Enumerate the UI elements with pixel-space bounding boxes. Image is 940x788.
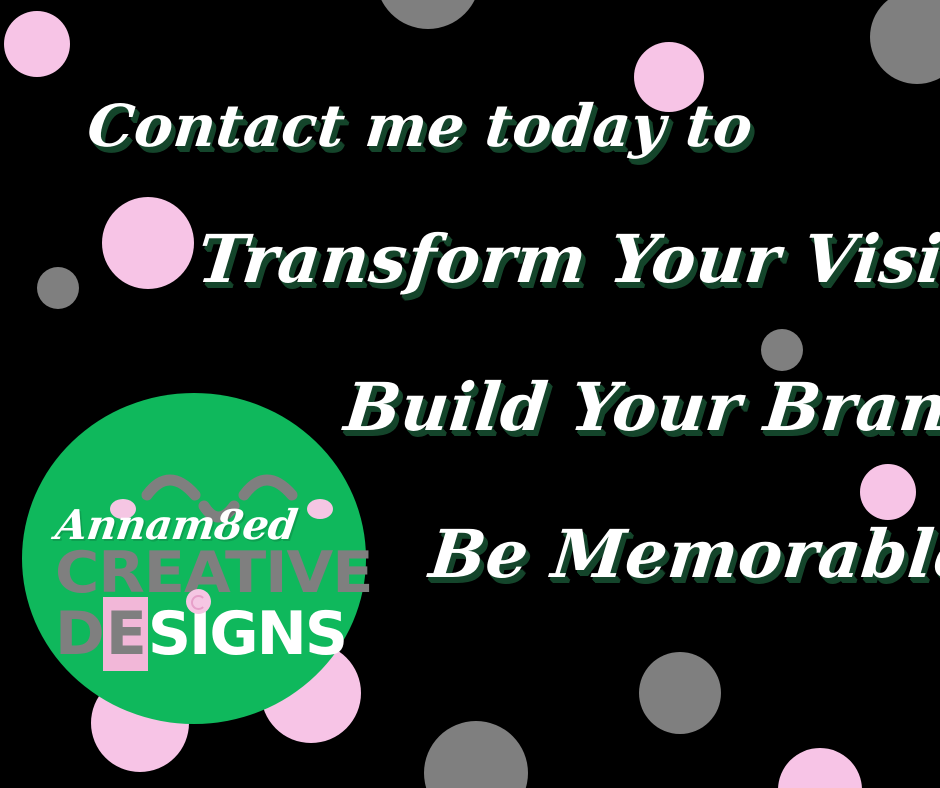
decorative-dot (778, 748, 862, 788)
decorative-dot (761, 329, 803, 371)
decorative-dot (102, 197, 194, 289)
logo-swirl-accent-icon (186, 589, 211, 614)
poster-canvas: Annam8ed CREATIVE DESIGNS Contact me tod… (0, 0, 940, 788)
decorative-dot (37, 267, 79, 309)
decorative-dot (639, 652, 721, 734)
brand-logo-badge: Annam8ed CREATIVE DESIGNS (22, 393, 366, 724)
decorative-dot (376, 0, 480, 29)
logo-designs-letter-e: E (103, 597, 148, 671)
headline-line-2: Transform Your Vision (194, 220, 940, 298)
logo-designs-letters-signs: SIGNS (148, 599, 346, 669)
decorative-dot (424, 721, 528, 788)
decorative-dot (4, 11, 70, 77)
decorative-dot (634, 42, 704, 112)
headline-line-3: Build Your Brand (341, 368, 940, 446)
logo-designs-letter-d: D (55, 599, 103, 669)
decorative-dot (870, 0, 940, 84)
headline-line-4: Be Memorable (426, 515, 940, 593)
decorative-dot (860, 464, 916, 520)
